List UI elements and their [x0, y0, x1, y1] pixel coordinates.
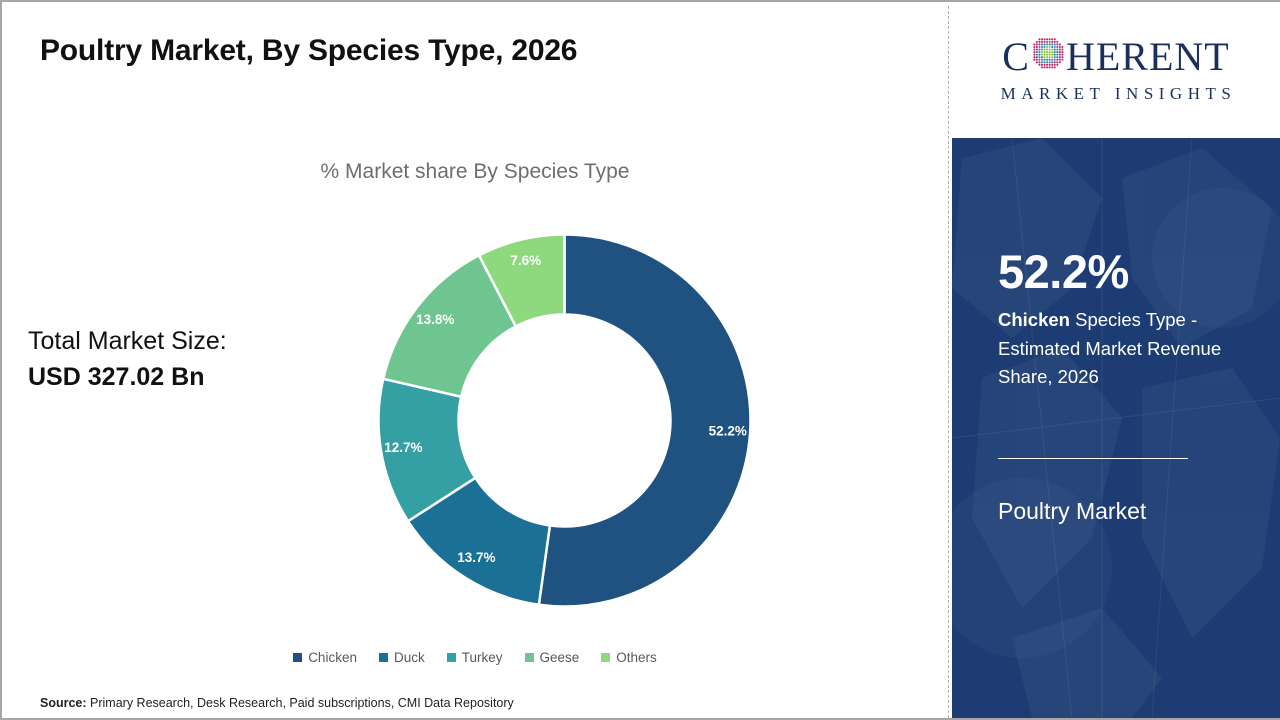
source-line: Source: Primary Research, Desk Research,… — [40, 696, 514, 710]
legend-swatch-chicken — [293, 653, 302, 662]
legend-label-turkey: Turkey — [462, 650, 503, 665]
chart-panel: Poultry Market, By Species Type, 2026 % … — [2, 2, 948, 718]
legend-swatch-turkey — [447, 653, 456, 662]
brand-panel: C HERENT MARKET INSIGHTS — [952, 2, 1280, 718]
legend-swatch-geese — [525, 653, 534, 662]
total-market-size-label: Total Market Size: — [28, 324, 227, 360]
legend-label-others: Others — [616, 650, 657, 665]
donut-slice-label-geese: 13.8% — [416, 312, 454, 327]
legend-label-chicken: Chicken — [308, 650, 357, 665]
donut-chart-svg: 52.2%13.7%12.7%13.8%7.6% — [372, 228, 757, 613]
legend-item-duck[interactable]: Duck — [379, 650, 425, 665]
chart-legend: ChickenDuckTurkeyGeeseOthers — [2, 650, 948, 665]
panel-divider — [948, 6, 949, 718]
total-market-size: Total Market Size: USD 327.02 Bn — [28, 324, 227, 395]
report-name: Poultry Market — [998, 498, 1146, 525]
chart-subtitle: % Market share By Species Type — [2, 160, 948, 184]
legend-item-geese[interactable]: Geese — [525, 650, 580, 665]
donut-slice-label-duck: 13.7% — [457, 550, 495, 565]
page-title: Poultry Market, By Species Type, 2026 — [40, 34, 577, 68]
legend-swatch-duck — [379, 653, 388, 662]
logo-wordmark: C HERENT — [1002, 36, 1229, 77]
logo-wordmark-c: C — [1002, 37, 1030, 77]
world-map-background — [952, 138, 1280, 718]
divider-rule — [998, 458, 1188, 459]
brand-panel-body: 52.2% Chicken Species Type - Estimated M… — [952, 138, 1280, 718]
donut-chart: 52.2%13.7%12.7%13.8%7.6% — [372, 228, 757, 613]
total-market-size-value: USD 327.02 Bn — [28, 360, 227, 396]
logo-wordmark-rest: HERENT — [1066, 37, 1230, 77]
donut-slice-chicken[interactable] — [539, 235, 751, 607]
logo-subtext: MARKET INSIGHTS — [996, 84, 1237, 104]
legend-item-others[interactable]: Others — [601, 650, 657, 665]
source-label: Source: — [40, 696, 87, 710]
infographic-page: Poultry Market, By Species Type, 2026 % … — [0, 0, 1280, 720]
stat-percent: 52.2% — [998, 244, 1129, 299]
stat-description-strong: Chicken — [998, 309, 1070, 330]
stat-description: Chicken Species Type - Estimated Market … — [998, 306, 1240, 392]
legend-label-duck: Duck — [394, 650, 425, 665]
donut-slice-label-turkey: 12.7% — [384, 440, 422, 455]
source-text: Primary Research, Desk Research, Paid su… — [87, 696, 514, 710]
dotted-sphere-icon — [1031, 36, 1065, 77]
donut-slice-label-chicken: 52.2% — [709, 423, 747, 438]
legend-label-geese: Geese — [540, 650, 580, 665]
legend-swatch-others — [601, 653, 610, 662]
donut-slice-label-others: 7.6% — [510, 253, 541, 268]
logo: C HERENT MARKET INSIGHTS — [952, 2, 1280, 138]
donut-slice-group — [379, 235, 751, 607]
legend-item-turkey[interactable]: Turkey — [447, 650, 503, 665]
legend-item-chicken[interactable]: Chicken — [293, 650, 357, 665]
